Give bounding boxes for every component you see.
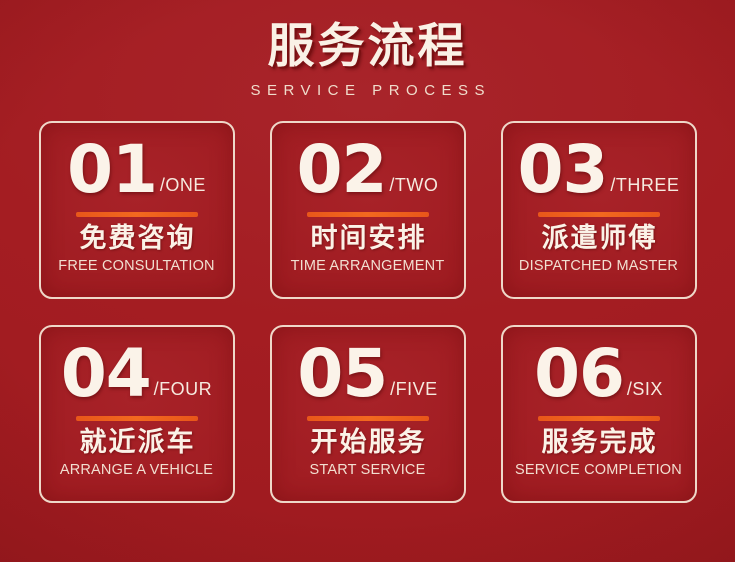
service-process-poster: 服务流程 SERVICE PROCESS 01 /ONE 免费咨询 FREE C… — [0, 0, 735, 562]
step-number-row: 04 /FOUR — [41, 335, 233, 407]
step-number: 05 — [297, 342, 387, 407]
step-divider — [538, 212, 660, 217]
step-divider — [307, 212, 429, 217]
step-card-06: 06 /SIX 服务完成 SERVICE COMPLETION — [501, 325, 697, 503]
step-card-03: 03 /THREE 派遣师傅 DISPATCHED MASTER — [501, 121, 697, 299]
step-number-row: 01 /ONE — [41, 131, 233, 203]
step-title-en: DISPATCHED MASTER — [519, 258, 678, 275]
step-title-cn: 时间安排 — [309, 223, 427, 255]
step-divider — [307, 416, 429, 421]
step-number-word: /TWO — [389, 176, 438, 203]
step-card-01: 01 /ONE 免费咨询 FREE CONSULTATION — [39, 121, 235, 299]
step-number-word: /FIVE — [390, 380, 438, 407]
step-number: 01 — [67, 138, 157, 203]
step-number-row: 05 /FIVE — [272, 335, 464, 407]
step-number-word: /FOUR — [154, 380, 213, 407]
step-card-02: 02 /TWO 时间安排 TIME ARRANGEMENT — [270, 121, 466, 299]
page-subtitle: SERVICE PROCESS — [0, 82, 735, 99]
step-title-cn: 开始服务 — [309, 427, 427, 459]
step-divider — [538, 416, 660, 421]
step-title-en: FREE CONSULTATION — [58, 258, 214, 275]
step-divider — [76, 212, 198, 217]
step-number-row: 06 /SIX — [503, 335, 695, 407]
step-number: 04 — [61, 342, 151, 407]
step-divider — [76, 416, 198, 421]
step-title-cn: 派遣师傅 — [540, 223, 658, 255]
step-card-05: 05 /FIVE 开始服务 START SERVICE — [270, 325, 466, 503]
step-title-cn: 服务完成 — [540, 427, 658, 459]
step-title-en: SERVICE COMPLETION — [515, 462, 682, 479]
step-number: 03 — [518, 138, 608, 203]
step-card-04: 04 /FOUR 就近派车 ARRANGE A VEHICLE — [39, 325, 235, 503]
step-number-row: 02 /TWO — [272, 131, 464, 203]
step-number: 06 — [534, 342, 624, 407]
steps-grid: 01 /ONE 免费咨询 FREE CONSULTATION 02 /TWO 时… — [39, 121, 697, 503]
step-number-word: /SIX — [627, 380, 663, 407]
step-title-en: ARRANGE A VEHICLE — [60, 462, 213, 479]
poster-header: 服务流程 SERVICE PROCESS — [0, 0, 735, 99]
step-title-en: START SERVICE — [310, 462, 426, 479]
step-number-word: /ONE — [160, 176, 206, 203]
step-title-en: TIME ARRANGEMENT — [291, 258, 445, 275]
page-title: 服务流程 — [0, 22, 735, 73]
step-number-row: 03 /THREE — [503, 131, 695, 203]
step-title-cn: 免费咨询 — [78, 223, 196, 255]
step-number: 02 — [297, 138, 387, 203]
step-number-word: /THREE — [610, 176, 679, 203]
step-title-cn: 就近派车 — [78, 427, 196, 459]
